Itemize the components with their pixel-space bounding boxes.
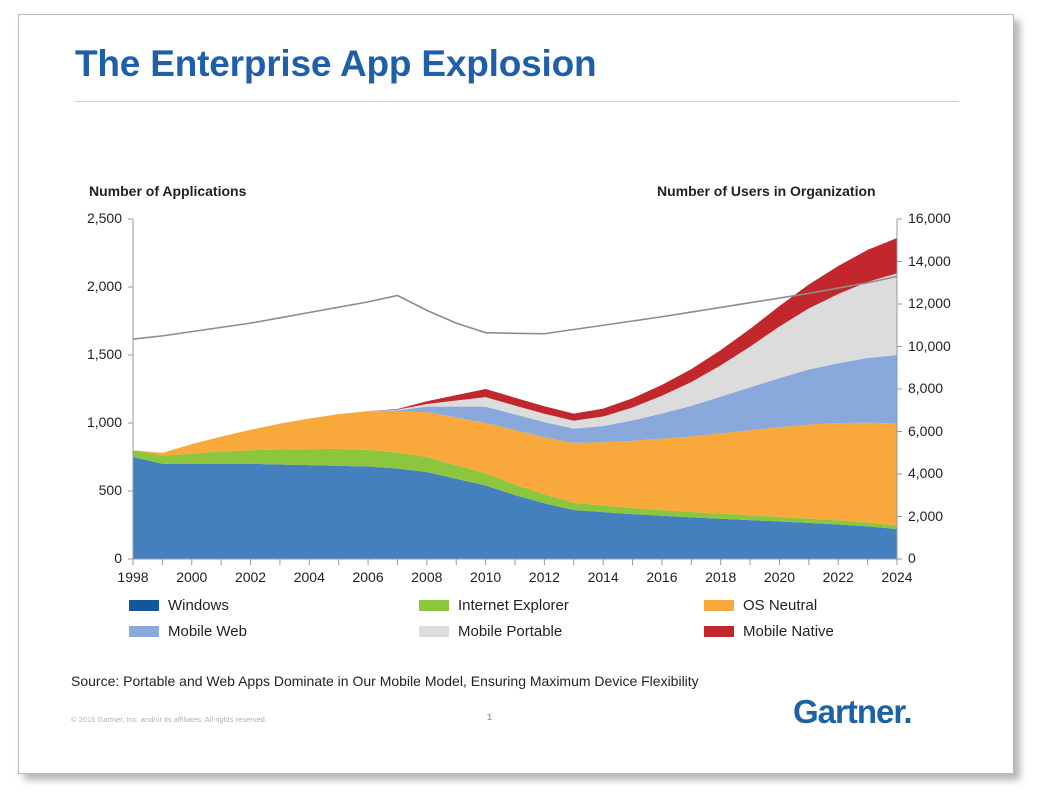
y2-tick-label: 0 <box>908 550 968 566</box>
gartner-logo-dot: . <box>903 693 911 730</box>
title-divider <box>75 101 959 102</box>
x-tick-label: 2020 <box>754 569 804 585</box>
x-tick-label: 2016 <box>637 569 687 585</box>
y2-tick-label: 12,000 <box>908 295 968 311</box>
legend-swatch-icon <box>129 600 159 611</box>
legend-item-os-neutral[interactable]: OS Neutral <box>704 597 919 614</box>
legend-swatch-icon <box>419 600 449 611</box>
y-tick-label: 1,000 <box>66 414 122 430</box>
y-tick-label: 2,000 <box>66 278 122 294</box>
legend-item-windows[interactable]: Windows <box>129 597 419 614</box>
gartner-logo-text: Gartner <box>793 693 903 730</box>
chart-plot-area <box>75 205 959 585</box>
legend-item-mobile-portable[interactable]: Mobile Portable <box>419 623 704 640</box>
gartner-logo: Gartner. <box>793 693 912 731</box>
legend-row: WindowsInternet ExplorerOS Neutral <box>129 592 919 618</box>
legend-label: Windows <box>168 597 229 614</box>
x-tick-label: 2010 <box>461 569 511 585</box>
y2-tick-label: 4,000 <box>908 465 968 481</box>
copyright-note: © 2015 Gartner, Inc. and/or its affiliat… <box>71 715 267 724</box>
legend-item-mobile-native[interactable]: Mobile Native <box>704 623 919 640</box>
legend-swatch-icon <box>419 626 449 637</box>
legend-label: Internet Explorer <box>458 597 569 614</box>
area-chart <box>75 205 959 585</box>
x-tick-label: 2024 <box>872 569 922 585</box>
legend-item-mobile-web[interactable]: Mobile Web <box>129 623 419 640</box>
x-tick-label: 2006 <box>343 569 393 585</box>
y2-tick-label: 10,000 <box>908 338 968 354</box>
x-tick-label: 2014 <box>578 569 628 585</box>
y2-tick-label: 14,000 <box>908 253 968 269</box>
x-tick-label: 2018 <box>696 569 746 585</box>
y-tick-label: 500 <box>66 482 122 498</box>
legend-swatch-icon <box>704 600 734 611</box>
legend-label: Mobile Portable <box>458 623 562 640</box>
x-tick-label: 2002 <box>226 569 276 585</box>
y2-tick-label: 6,000 <box>908 423 968 439</box>
left-axis-title: Number of Applications <box>89 183 246 199</box>
chart-legend: WindowsInternet ExplorerOS NeutralMobile… <box>129 592 919 644</box>
x-tick-label: 2012 <box>519 569 569 585</box>
right-axis-title: Number of Users in Organization <box>657 183 876 199</box>
slide-frame: The Enterprise App Explosion Number of A… <box>18 14 1014 774</box>
x-tick-label: 2022 <box>813 569 863 585</box>
legend-row: Mobile WebMobile PortableMobile Native <box>129 618 919 644</box>
x-tick-label: 2004 <box>284 569 334 585</box>
x-tick-label: 2008 <box>402 569 452 585</box>
legend-swatch-icon <box>704 626 734 637</box>
legend-label: Mobile Native <box>743 623 834 640</box>
legend-label: Mobile Web <box>168 623 247 640</box>
source-note: Source: Portable and Web Apps Dominate i… <box>71 673 699 689</box>
page-number: 1 <box>487 712 492 722</box>
legend-swatch-icon <box>129 626 159 637</box>
legend-item-internet-explorer[interactable]: Internet Explorer <box>419 597 704 614</box>
legend-label: OS Neutral <box>743 597 817 614</box>
x-tick-label: 1998 <box>108 569 158 585</box>
y-tick-label: 0 <box>66 550 122 566</box>
y2-tick-label: 2,000 <box>908 508 968 524</box>
y2-tick-label: 8,000 <box>908 380 968 396</box>
page-title: The Enterprise App Explosion <box>75 43 596 85</box>
y2-tick-label: 16,000 <box>908 210 968 226</box>
y-tick-label: 2,500 <box>66 210 122 226</box>
y-tick-label: 1,500 <box>66 346 122 362</box>
x-tick-label: 2000 <box>167 569 217 585</box>
